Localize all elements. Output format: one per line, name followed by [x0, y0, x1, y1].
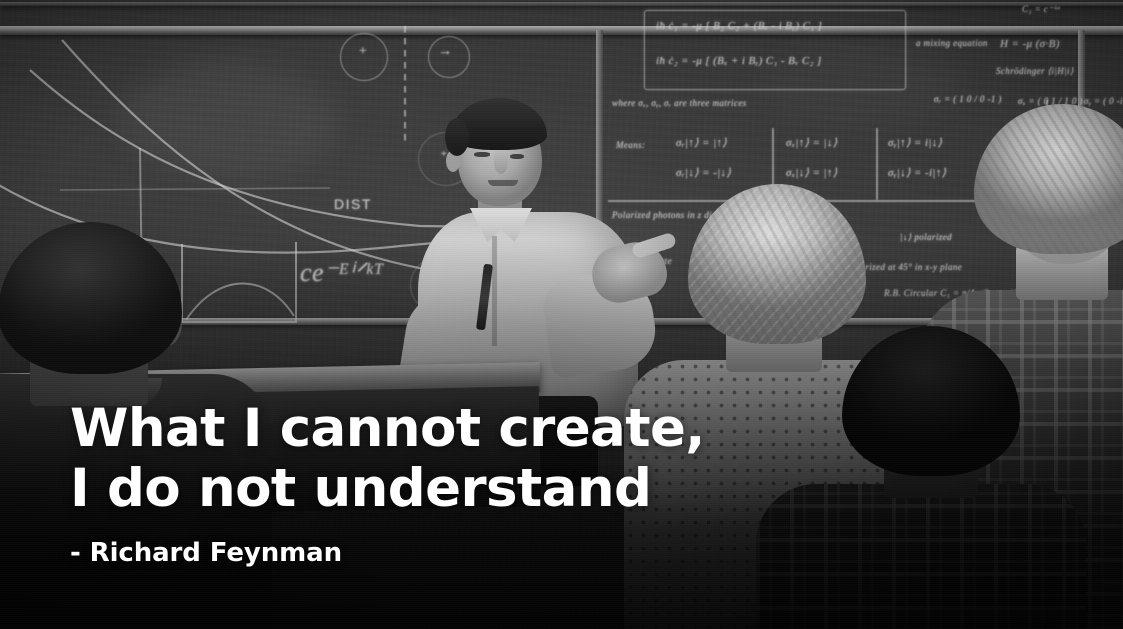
person-student-dark: [812, 326, 1062, 629]
blackboard-top-edge: [0, 2, 1123, 6]
chalk-hamiltonian: H = -μ (σ·B): [1000, 38, 1060, 50]
feynman-shirt-placket: [492, 236, 497, 346]
chalk-arrow-symbol: →: [438, 44, 452, 60]
chalk-sigma-z-matrix: σᵣ = ( 1 0 / 0 -1 ): [934, 94, 1002, 104]
chalk-dist-label: DIST: [334, 196, 372, 212]
chalk-means-r1c1: σᵣ|↑⟩ = |↑⟩: [676, 136, 727, 149]
chalk-boltzmann-factor: ce⁻ᴱⁱᐟᵏᵀ: [300, 258, 384, 288]
quote-card: DIST ce⁻ᴱⁱᐟᵏᵀ + → + + iħ ċ₁ = -μ [ B₂ C₂…: [0, 0, 1123, 629]
feynman-mouth: [488, 180, 518, 186]
student-plaid-hair-texture: [974, 104, 1123, 254]
student-dark-shirt: [756, 484, 1086, 629]
chalk-means-r2c1: σᵣ|↓⟩ = -|↓⟩: [676, 166, 731, 179]
student-blonde-hair-texture: [688, 184, 866, 344]
student-left-hair: [0, 222, 182, 374]
quote-attribution: - Richard Feynman: [70, 537, 705, 569]
feynman-hair: [451, 98, 547, 150]
chalk-means-r1c2: σₓ|↑⟩ = |↓⟩: [786, 136, 838, 149]
chalk-schrodinger-note: Schrödinger ⟨i|H|i⟩: [996, 66, 1074, 77]
quote-block: What I cannot create, I do not understan…: [70, 399, 705, 569]
chalk-boxed-equation-2: iħ ċ₂ = -μ [ (Bₓ + i Bᵧ) C₁ - Bᵥ C₂ ]: [656, 55, 822, 67]
chalk-boxed-equation-1: iħ ċ₁ = -μ [ B₂ C₂ + (Bᵥ - i Bᵧ) C₁ ]: [656, 20, 822, 32]
student-dark-hair: [842, 326, 1020, 476]
chalk-annotation-mixing: a mixing equation: [916, 38, 988, 48]
chalk-plus-symbol: +: [358, 44, 368, 60]
feynman-nose: [494, 148, 508, 174]
chalk-means-r1c3: σᵧ|↑⟩ = i|↓⟩: [888, 136, 942, 149]
feynman-eye: [510, 154, 524, 159]
quote-line-1: What I cannot create,: [70, 399, 705, 459]
feynman-eye: [474, 152, 490, 157]
chalk-means-r2c2: σₓ|↓⟩ = |↑⟩: [786, 166, 838, 179]
chalk-annotation-c1: C₁ = c⁻ⁱᵒᵗ: [1022, 4, 1060, 15]
plaid-pattern: [756, 484, 1086, 629]
chalk-means-r2c3: σᵧ|↓⟩ = -i|↑⟩: [888, 166, 946, 179]
quote-line-2: I do not understand: [70, 459, 705, 519]
